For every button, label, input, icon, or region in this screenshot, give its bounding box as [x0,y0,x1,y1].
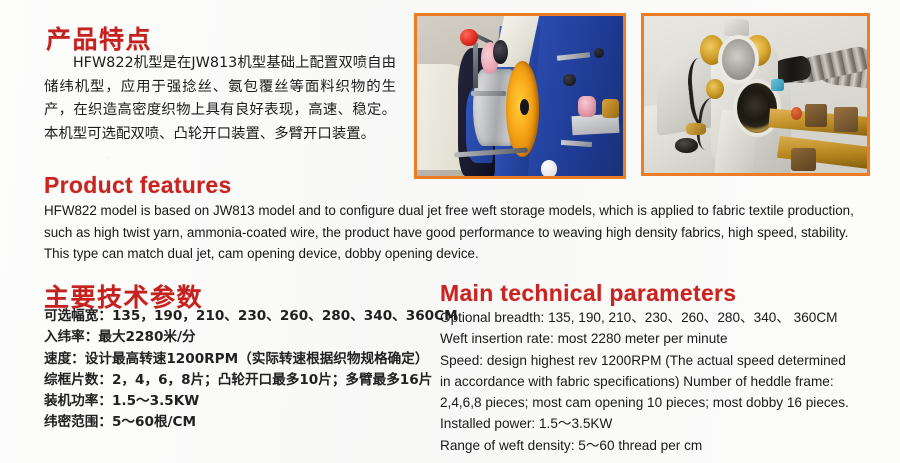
spec-line-cn: 可选幅宽：135，190，210、230、260、280、340、360CM [44,306,458,327]
spec-line-en: 2,4,6,8 pieces; most cam opening 10 piec… [440,392,849,413]
photo2-red-cap [791,107,802,120]
photo2-brown-block-2 [834,107,859,132]
spec-line-en: Installed power: 1.5～3.5KW [440,413,849,434]
spec-line-en: in accordance with fabric specifications… [440,371,849,392]
technical-parameters-title-en: Main technical parameters [440,280,736,307]
photo1-black-knob [563,74,575,87]
product-features-body-cn: HFW822机型是在JW813机型基础上配置双喷自由储纬机型，应用于强捻丝、氨包… [44,52,396,146]
photo1-cross-shaft [471,91,506,95]
photo1-red-handle-ball [460,29,478,47]
photo1-pink-spool [578,96,597,117]
brochure-page: 产品特点 HFW822机型是在JW813机型基础上配置双喷自由储纬机型，应用于强… [0,0,900,463]
photo1-white-knob [541,160,557,176]
technical-parameters-list-en: Optional breadth: 135, 190, 210、230、260、… [440,307,849,456]
spec-line-cn: 速度：设计最高转速1200RPM（实际转速根据织物规格确定） [44,349,458,370]
product-features-body-en: HFW822 model is based on JW813 model and… [44,200,874,265]
photo1-brass-fitting [602,99,618,118]
technical-parameters-list-cn: 可选幅宽：135，190，210、230、260、280、340、360CM 入… [44,306,458,434]
photo2-blue-fitting [771,79,784,92]
spec-line-en: Optional breadth: 135, 190, 210、230、260、… [440,307,849,328]
spec-line-en: Range of weft density: 5～60 thread per c… [440,435,849,456]
photo2-brass-foot [686,123,706,136]
photo-1-content [417,16,623,176]
product-photo-weft-storage [414,13,626,179]
photo2-brown-block-3 [791,148,816,172]
photo2-brown-block-1 [805,104,827,128]
product-features-title-en: Product features [44,172,232,199]
spec-line-en: Weft insertion rate: most 2280 meter per… [440,328,849,349]
spec-line-cn: 入纬率：最大2280米/分 [44,327,458,348]
photo2-upper-pulley-ring [718,35,759,84]
spec-line-cn: 装机功率：1.5～3.5KW [44,391,458,412]
product-photo-dobby-device [641,13,870,176]
photo-2-content [644,16,867,173]
photo1-black-roller [493,40,507,64]
product-features-title-cn: 产品特点 [46,20,152,56]
photo2-black-disc [675,138,697,152]
spec-line-en: Speed: design highest rev 1200RPM (The a… [440,350,849,371]
photo1-vertical-rod [473,43,478,88]
photo2-top-cap [724,19,749,36]
spec-line-cn: 综框片数：2，4，6，8片；凸轮开口最多10片；多臂最多16片 [44,370,458,391]
spec-line-cn: 纬密范围：5～60根/CM [44,412,458,433]
